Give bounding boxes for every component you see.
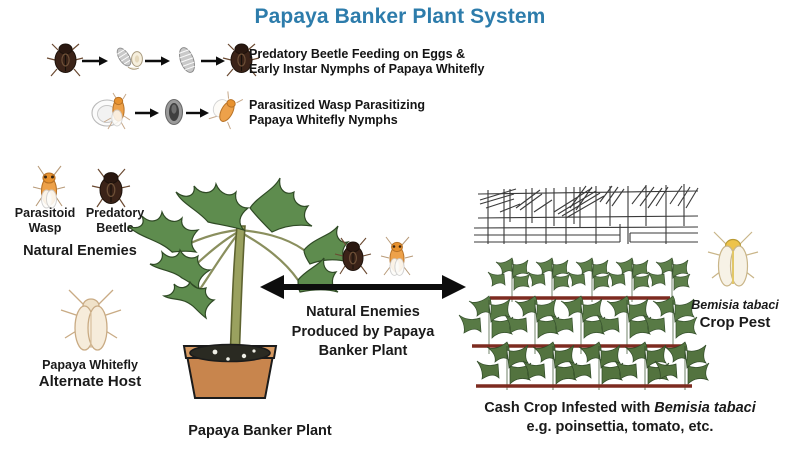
crop-pest-species-label: Bemisia tabaci	[676, 298, 794, 313]
wasp-icon	[381, 237, 413, 275]
papaya-whitefly-group	[55, 288, 127, 358]
whitefly-nymph-icon	[177, 46, 198, 75]
whitefly-nymph-egg-icon	[114, 46, 142, 69]
crop-pest-label: Crop Pest	[676, 314, 794, 332]
crop-rows	[459, 258, 709, 390]
beetle-lifecycle-icons	[46, 40, 246, 82]
legend-row-beetle	[46, 40, 246, 82]
greenhouse-frame	[474, 184, 698, 244]
arrow-right-head	[442, 275, 466, 299]
legend-beetle-line1: Predatory Beetle Feeding on Eggs &	[249, 47, 549, 62]
greenhouse-illustration	[470, 178, 700, 393]
banker-plant-caption: Papaya Banker Plant	[150, 423, 370, 440]
legend-text-beetle: Predatory Beetle Feeding on Eggs & Early…	[249, 47, 549, 78]
diagram-canvas: Papaya Banker Plant System	[0, 0, 800, 469]
cash-crop-caption-prefix: Cash Crop Infested with	[484, 400, 654, 416]
bemisia-tabaci-group	[700, 228, 766, 294]
plant-stem	[230, 226, 245, 360]
beetle-icon	[47, 44, 83, 76]
papaya-whitefly-icon	[55, 288, 127, 358]
center-arrow-line1: Natural Enemies	[278, 303, 448, 323]
wasp-lifecycle-icons	[90, 92, 240, 134]
center-arrow-line3: Banker Plant	[278, 342, 448, 362]
legend-wasp-line2: Papaya Whitefly Nymphs	[249, 113, 549, 128]
bidirectional-arrow	[258, 272, 468, 302]
wasp-icon	[208, 89, 246, 130]
page-title: Papaya Banker Plant System	[0, 5, 800, 29]
parasitoid-wasp-label: Parasitoid Wasp	[12, 206, 78, 236]
legend-beetle-line2: Early Instar Nymphs of Papaya Whitefly	[249, 62, 549, 77]
beetle-icon	[335, 238, 371, 274]
bemisia-tabaci-icon	[700, 228, 766, 294]
parasitized-pupa-icon	[166, 100, 183, 125]
parasitoid-wasp-label-line1: Parasitoid	[12, 206, 78, 221]
arrow-right-icon	[82, 56, 108, 65]
arrow-left-head	[260, 275, 284, 299]
arrow-right-icon	[186, 108, 209, 117]
parasitoid-wasp-label-line2: Wasp	[12, 221, 78, 236]
arrow-right-icon	[201, 56, 225, 65]
legend-row-wasp	[90, 92, 240, 134]
wasp-on-nymph-icon	[92, 93, 130, 129]
greenhouse-svg	[470, 178, 700, 393]
center-arrow-caption: Natural Enemies Produced by Papaya Banke…	[278, 303, 448, 362]
legend-text-wasp: Parasitized Wasp Parasitizing Papaya Whi…	[249, 98, 549, 129]
parasitoid-wasp-icon	[33, 166, 65, 208]
bidirectional-arrow-svg	[258, 272, 468, 302]
cash-crop-caption-line2: e.g. poinsettia, tomato, etc.	[440, 419, 800, 436]
cash-crop-caption-line1: Cash Crop Infested with Bemisia tabaci	[440, 400, 800, 417]
plant-pot	[184, 345, 276, 399]
cash-crop-caption-species: Bemisia tabaci	[654, 400, 756, 416]
arrow-right-icon	[135, 108, 159, 117]
arrow-right-icon	[145, 56, 170, 65]
legend-wasp-line1: Parasitized Wasp Parasitizing	[249, 98, 549, 113]
crop-row-back	[488, 258, 690, 302]
center-arrow-line2: Produced by Papaya	[278, 323, 448, 343]
